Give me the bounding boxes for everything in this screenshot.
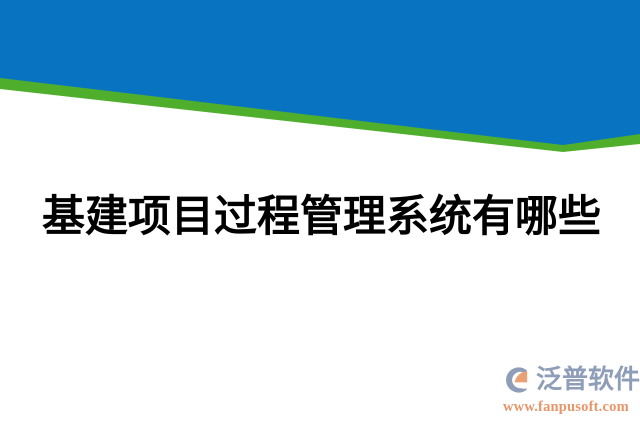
fanpu-logo-mark-icon xyxy=(503,365,533,395)
header-banner xyxy=(0,0,640,175)
logo-mark-shape xyxy=(503,365,533,395)
banner-shape xyxy=(0,0,640,175)
brand-logo-row: 泛普软件 xyxy=(503,362,637,398)
brand-url-text: www.fanpusoft.com xyxy=(503,399,637,416)
page-title: 基建项目过程管理系统有哪些 xyxy=(42,192,608,244)
brand-name-text: 泛普软件 xyxy=(536,365,640,395)
brand-logo: 泛普软件 www.fanpusoft.com xyxy=(503,362,637,418)
slide-canvas: 基建项目过程管理系统有哪些 泛普软件 www.fanpusoft.com xyxy=(0,0,640,427)
